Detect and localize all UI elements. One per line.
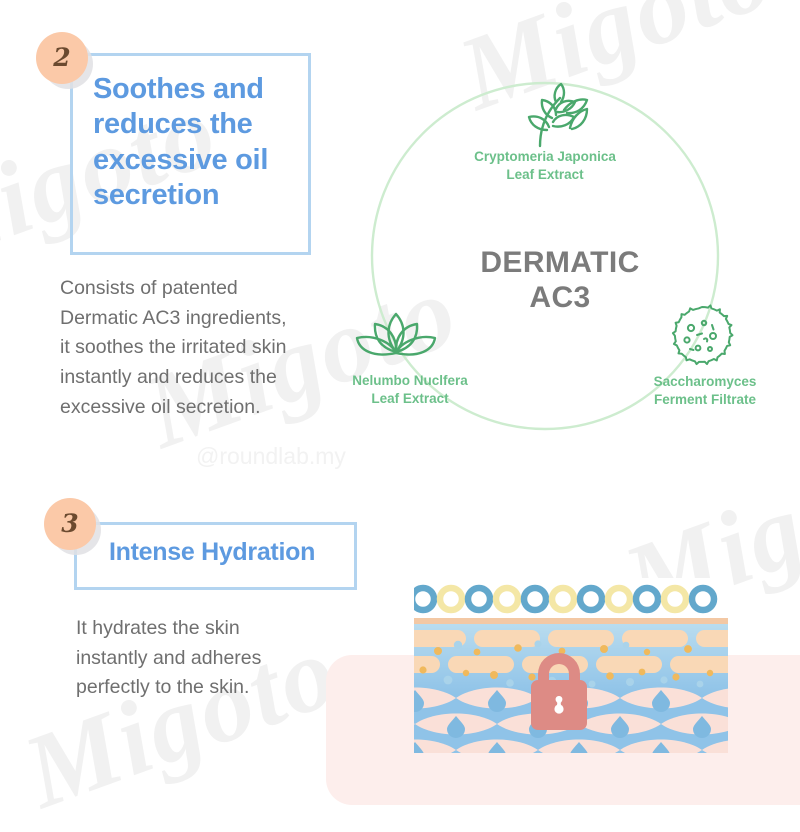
headline-box-3: Intense Hydration [74, 522, 357, 590]
step-number: 3 [61, 511, 78, 536]
body-text-2: Consists of patented Dermatic AC3 ingred… [60, 274, 330, 422]
branch-leaves-icon [500, 82, 590, 155]
ingredient-label-nelumbo: Nelumbo Nuclfera Leaf Extract [300, 372, 520, 408]
molecule-ring-row [414, 578, 728, 618]
ingredient-circle-diagram: Cryptomeria Japonica Leaf Extract Nelumb… [340, 60, 780, 470]
skin-cross-section [414, 618, 728, 753]
body-text-3: It hydrates the skin instantly and adher… [76, 614, 326, 703]
diagram-center-title: DERMATIC AC3 [340, 246, 780, 316]
step-number: 2 [53, 45, 70, 70]
lotus-icon [353, 306, 439, 373]
ingredient-label-saccharomyces: Saccharomyces Ferment Filtrate [615, 373, 795, 409]
headline-box-2: Soothes and reduces the excessive oil se… [70, 53, 311, 255]
step-badge-2: 2 [36, 32, 88, 84]
watermark-handle: @roundlab.my [196, 443, 346, 470]
headline-text-2: Soothes and reduces the excessive oil se… [93, 72, 303, 214]
ingredient-label-cryptomeria: Cryptomeria Japonica Leaf Extract [425, 148, 665, 184]
skin-layers-diagram [414, 578, 728, 753]
infographic-canvas: Migoto Migoto Migoto Migoto Migoto 2 Soo… [0, 0, 800, 800]
headline-text-3: Intense Hydration [109, 537, 359, 568]
step-badge-3: 3 [44, 498, 96, 550]
